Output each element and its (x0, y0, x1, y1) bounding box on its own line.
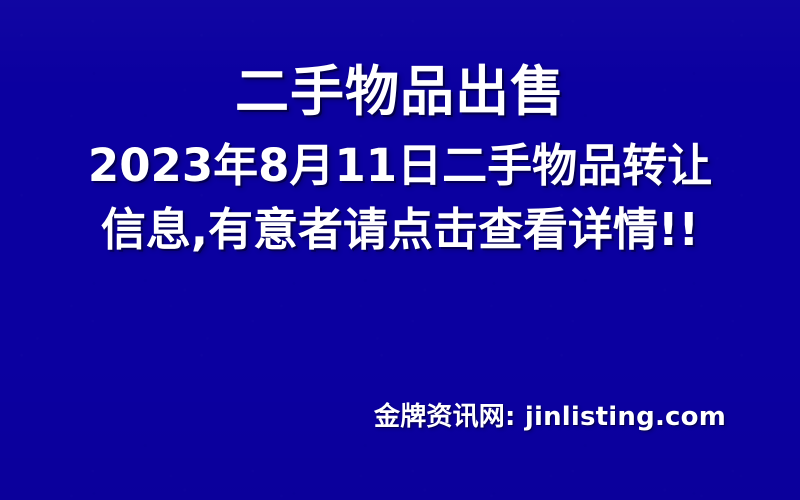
banner-body-copy: 2023年8月11日二手物品转让 信息,有意者请点击查看详情!! (0, 134, 800, 262)
footer-site-credit: 金牌资讯网: jinlisting.com (374, 400, 726, 434)
body-line-1: 2023年8月11日二手物品转让 (0, 134, 800, 198)
body-line-2: 信息,有意者请点击查看详情!! (0, 198, 800, 262)
promo-banner: 二手物品出售 2023年8月11日二手物品转让 信息,有意者请点击查看详情!! … (0, 0, 800, 500)
banner-headline: 二手物品出售 (0, 58, 800, 126)
